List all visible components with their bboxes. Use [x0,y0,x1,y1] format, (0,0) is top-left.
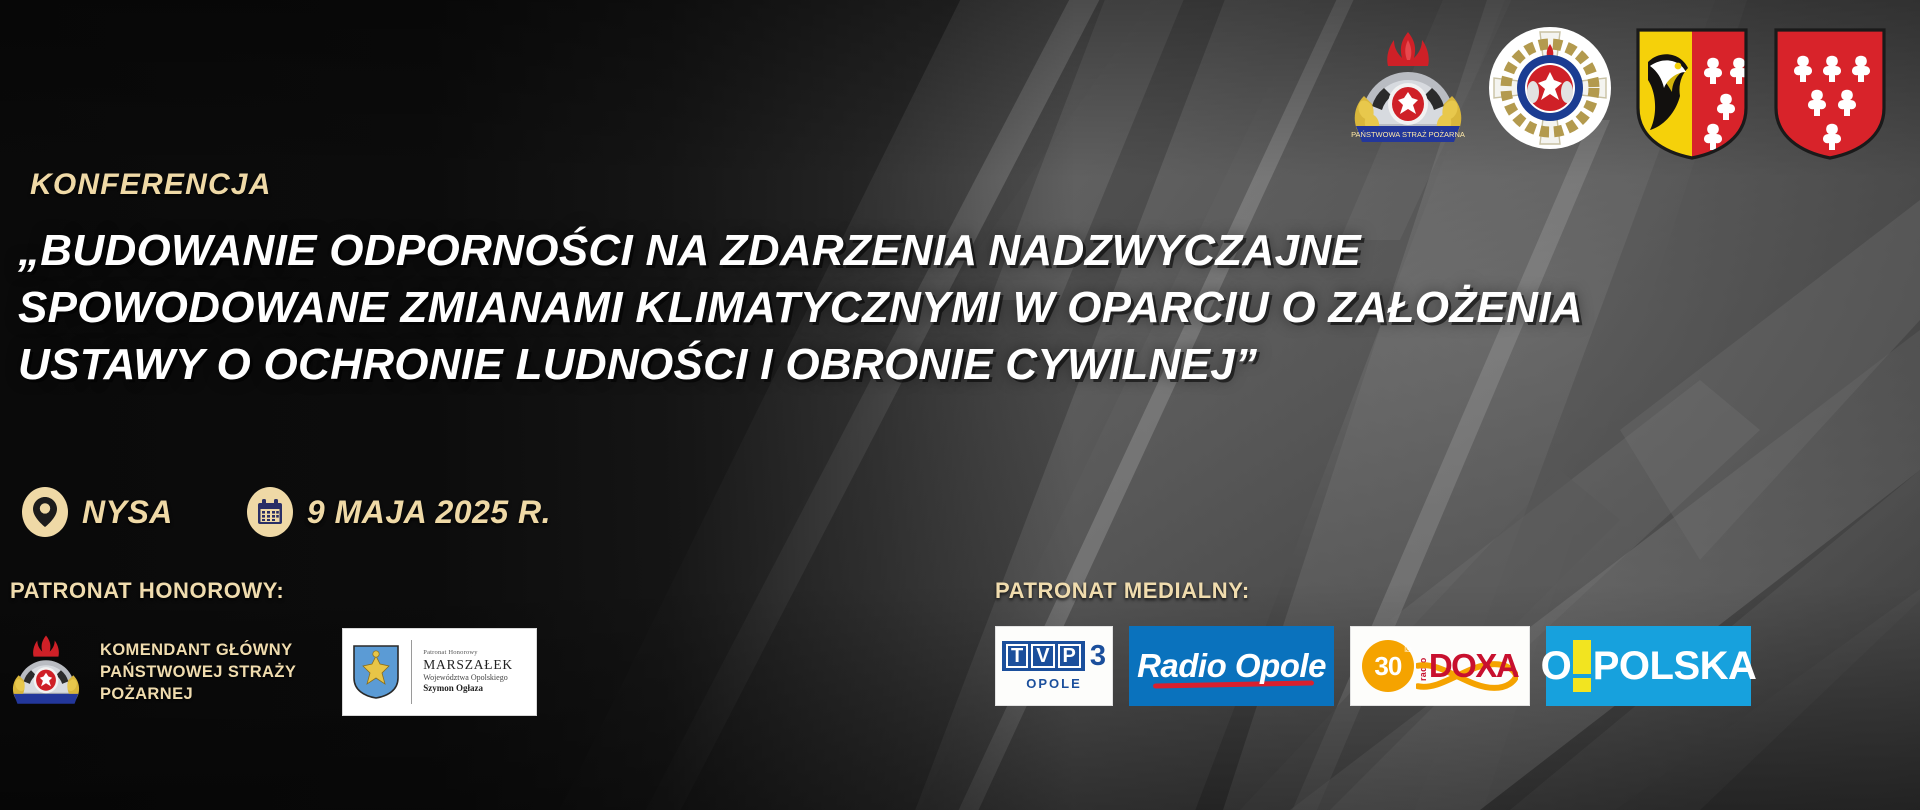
honorary-patronage-block: PATRONAT HONOROWY: [10,578,537,717]
opolskie-coat-of-arms [352,644,400,700]
exclamation-dot [1573,678,1591,692]
commander-line-2: PAŃSTWOWEJ STRAŻY [100,661,296,683]
media-patronage-block: PATRONAT MEDIALNY: T V P 3 OPOLE Radio O… [995,578,1751,706]
calendar-icon [247,487,293,537]
radio-doxa-logo[interactable]: 30 lat radio DOXA [1350,626,1530,706]
exclamation-stem [1573,640,1591,674]
conference-title: „BUDOWANIE ODPORNOŚCI NA ZDARZENIA NADZW… [18,222,1848,393]
doxa-wordmark: DOXA [1429,647,1518,685]
commander-title: KOMENDANT GŁÓWNY PAŃSTWOWEJ STRAŻY POŻAR… [100,639,296,705]
tvp-region-label: OPOLE [1026,676,1082,691]
marshal-kicker: Patronat Honorowy [423,649,513,657]
doxa-radio-word: radio [1418,651,1428,681]
marshal-card-divider [411,640,412,704]
media-logo-row: T V P 3 OPOLE Radio Opole 30 lat [995,626,1751,706]
radio-opole-wordmark: Radio Opole [1137,647,1326,685]
tvp3-mark: T V P 3 [1002,641,1106,671]
tvp-letter-v: V [1031,644,1054,668]
panstwowa-straz-pozarna-emblem: PAŃSTWOWA STRAŻ POŻARNA [1350,26,1466,151]
psp-banner-text: PAŃSTWOWA STRAŻ POŻARNA [1351,130,1465,139]
location-pin-icon [22,487,68,537]
event-date: 9 MAJA 2025 R. [247,487,551,537]
commander-line-3: POŻARNEJ [100,683,296,705]
powiat-nyski-coat-of-arms [1634,26,1750,167]
conference-kicker: KONFERENCJA [30,168,272,202]
marshal-patronage-card: Patronat Honorowy MARSZAŁEK Województwa … [342,628,537,716]
opolska-logo[interactable]: O POLSKA [1546,626,1751,706]
title-line-3: USTAWY O OCHRONIE LUDNOŚCI I OBRONIE CYW… [18,336,1848,393]
commander-line-1: KOMENDANT GŁÓWNY [100,639,296,661]
psp-small-emblem [10,626,82,717]
marshal-card-text: Patronat Honorowy MARSZAŁEK Województwa … [423,649,513,694]
event-meta: NYSA [22,487,551,537]
date-label: 9 MAJA 2025 R. [307,494,551,531]
title-line-2: SPOWODOWANE ZMIANAMI KLIMATYCZNYMI W OPA… [18,279,1848,336]
tvp-letter-p: P [1058,644,1081,668]
doxa-wordmark-group: radio DOXA [1408,647,1518,685]
doxa-anniversary-badge: 30 lat [1362,640,1414,692]
conference-banner: PAŃSTWOWA STRAŻ POŻARNA [0,0,1920,810]
opolska-exclamation-icon [1573,640,1591,692]
doxa-anniversary-number: 30 [1374,651,1401,682]
nysa-coat-of-arms [1772,26,1888,167]
title-line-1: „BUDOWANIE ODPORNOŚCI NA ZDARZENIA NADZW… [18,222,1848,279]
event-location: NYSA [22,487,173,537]
tvp-letter-t: T [1006,644,1028,668]
emblem-strip: PAŃSTWOWA STRAŻ POŻARNA [1350,26,1888,167]
marshal-region: Województwa Opolskiego [423,673,513,682]
media-patronage-heading: PATRONAT MEDIALNY: [995,578,1751,604]
opolska-letter-o: O [1541,644,1571,689]
honorary-patronage-row: KOMENDANT GŁÓWNY PAŃSTWOWEJ STRAŻY POŻAR… [10,626,537,717]
tvp-letters: T V P [1002,641,1085,671]
marshal-name: Szymon Ogłaza [423,683,513,694]
radio-opole-logo[interactable]: Radio Opole [1129,626,1334,706]
tvp3-opole-logo[interactable]: T V P 3 OPOLE [995,626,1113,706]
marshal-title: MARSZAŁEK [423,657,513,673]
tvp-channel-number: 3 [1090,643,1106,669]
honorary-patronage-heading: PATRONAT HONOROWY: [10,578,537,604]
location-label: NYSA [82,494,173,531]
opolska-wordmark: POLSKA [1593,644,1757,689]
zwiazek-osp-rp-emblem [1488,26,1612,155]
